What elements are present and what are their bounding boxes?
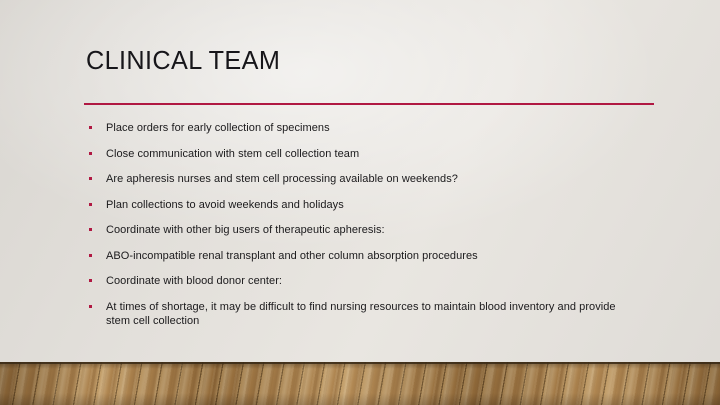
bullet-square-icon bbox=[89, 228, 92, 231]
list-item: Plan collections to avoid weekends and h… bbox=[84, 198, 618, 213]
list-item-text: Place orders for early collection of spe… bbox=[106, 121, 618, 136]
bullet-list: Place orders for early collection of spe… bbox=[84, 121, 618, 329]
slide-title: CLINICAL TEAM bbox=[86, 44, 280, 76]
bullet-square-icon bbox=[89, 126, 92, 129]
list-item-text: At times of shortage, it may be difficul… bbox=[106, 300, 618, 329]
list-item: At times of shortage, it may be difficul… bbox=[84, 300, 618, 329]
bullet-square-icon bbox=[89, 177, 92, 180]
list-item-text: Coordinate with blood donor center: bbox=[106, 274, 618, 289]
list-item-text: Coordinate with other big users of thera… bbox=[106, 223, 618, 238]
list-item-text: ABO-incompatible renal transplant and ot… bbox=[106, 249, 618, 264]
wooden-floor-decoration bbox=[0, 362, 720, 405]
bullet-square-icon bbox=[89, 305, 92, 308]
bullet-square-icon bbox=[89, 152, 92, 155]
floor-shading-overlay bbox=[0, 362, 720, 405]
list-item-text: Close communication with stem cell colle… bbox=[106, 147, 618, 162]
list-item: Coordinate with other big users of thera… bbox=[84, 223, 618, 238]
list-item: Coordinate with blood donor center: bbox=[84, 274, 618, 289]
presentation-slide: CLINICAL TEAM Place orders for early col… bbox=[0, 0, 720, 405]
bullet-square-icon bbox=[89, 254, 92, 257]
list-item: Close communication with stem cell colle… bbox=[84, 147, 618, 162]
bullet-square-icon bbox=[89, 279, 92, 282]
list-item: ABO-incompatible renal transplant and ot… bbox=[84, 249, 618, 264]
list-item-text: Are apheresis nurses and stem cell proce… bbox=[106, 172, 618, 187]
list-item: Are apheresis nurses and stem cell proce… bbox=[84, 172, 618, 187]
list-item-text: Plan collections to avoid weekends and h… bbox=[106, 198, 618, 213]
title-divider-rule bbox=[84, 103, 654, 105]
list-item: Place orders for early collection of spe… bbox=[84, 121, 618, 136]
bullet-square-icon bbox=[89, 203, 92, 206]
floor-top-edge-shadow bbox=[0, 362, 720, 364]
